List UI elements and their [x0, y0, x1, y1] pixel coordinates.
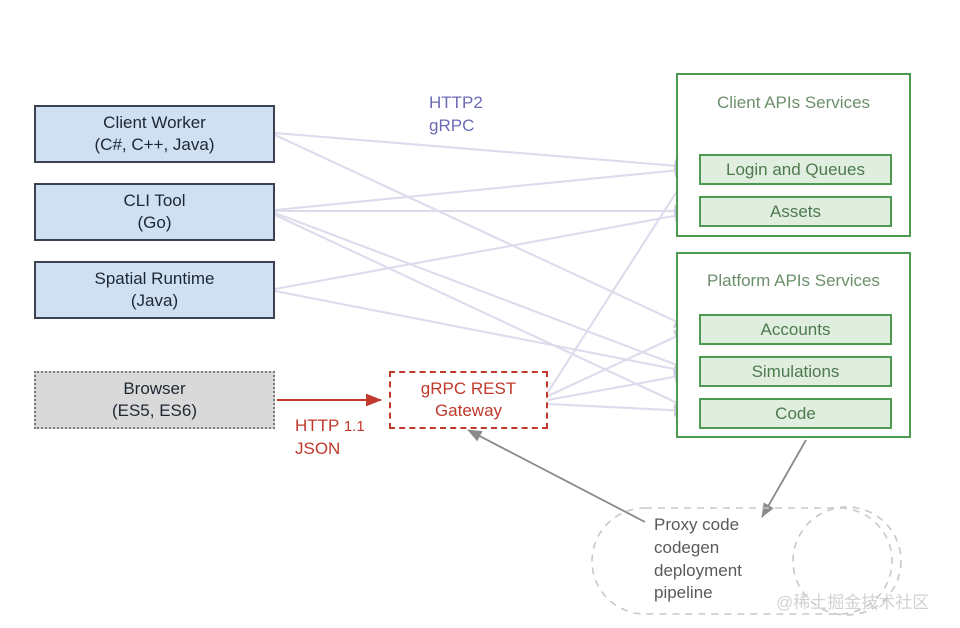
node-client-worker-line1: Client Worker	[103, 112, 206, 134]
pipeline-line-3: deployment	[654, 560, 742, 583]
gateway-line2: Gateway	[435, 400, 502, 422]
service-code[interactable]: Code	[699, 398, 892, 429]
node-client-worker-line2: (C#, C++, Java)	[95, 134, 215, 156]
pipeline-cloud-text: Proxy code codegen deployment pipeline	[654, 514, 742, 605]
service-accounts-label: Accounts	[761, 320, 831, 340]
node-client-worker[interactable]: Client Worker (C#, C++, Java)	[34, 105, 275, 163]
service-login-and-queues[interactable]: Login and Queues	[699, 154, 892, 185]
edge-label-rest-format: JSON	[295, 438, 365, 461]
pipeline-line-2: codegen	[654, 537, 742, 560]
service-login-and-queues-label: Login and Queues	[726, 160, 865, 180]
service-assets[interactable]: Assets	[699, 196, 892, 227]
gateway-line1: gRPC REST	[421, 378, 516, 400]
node-cli-tool[interactable]: CLI Tool (Go)	[34, 183, 275, 241]
watermark: @稀土掘金技术社区	[776, 588, 929, 613]
node-spatial-runtime-line2: (Java)	[131, 290, 178, 312]
pipeline-line-4: pipeline	[654, 582, 742, 605]
node-grpc-rest-gateway[interactable]: gRPC REST Gateway	[389, 371, 548, 429]
edge-label-grpc-line1: HTTP2	[429, 92, 483, 115]
node-cli-tool-line2: (Go)	[138, 212, 172, 234]
edge-label-rest-version: 1.1	[344, 418, 365, 435]
service-simulations-label: Simulations	[752, 362, 840, 382]
panel-platform-apis-title: Platform APIs Services	[678, 271, 909, 291]
panel-platform-apis-services: Platform APIs Services Accounts Simulati…	[676, 252, 911, 438]
architecture-diagram: Client Worker (C#, C++, Java) CLI Tool (…	[0, 0, 960, 628]
panel-client-apis-title: Client APIs Services	[678, 93, 909, 113]
node-spatial-runtime[interactable]: Spatial Runtime (Java)	[34, 261, 275, 319]
service-accounts[interactable]: Accounts	[699, 314, 892, 345]
node-browser[interactable]: Browser (ES5, ES6)	[34, 371, 275, 429]
node-cli-tool-line1: CLI Tool	[123, 190, 185, 212]
edge-label-grpc-line2: gRPC	[429, 115, 483, 138]
service-assets-label: Assets	[770, 202, 821, 222]
service-simulations[interactable]: Simulations	[699, 356, 892, 387]
edge-label-rest-protocol: HTTP	[295, 416, 339, 435]
edge-label-rest: HTTP 1.1 JSON	[295, 415, 365, 461]
node-browser-line1: Browser	[123, 378, 185, 400]
service-code-label: Code	[775, 404, 816, 424]
pipeline-line-1: Proxy code	[654, 514, 742, 537]
node-spatial-runtime-line1: Spatial Runtime	[94, 268, 214, 290]
edge-label-grpc: HTTP2 gRPC	[429, 92, 483, 138]
panel-client-apis-services: Client APIs Services Login and Queues As…	[676, 73, 911, 237]
node-browser-line2: (ES5, ES6)	[112, 400, 197, 422]
